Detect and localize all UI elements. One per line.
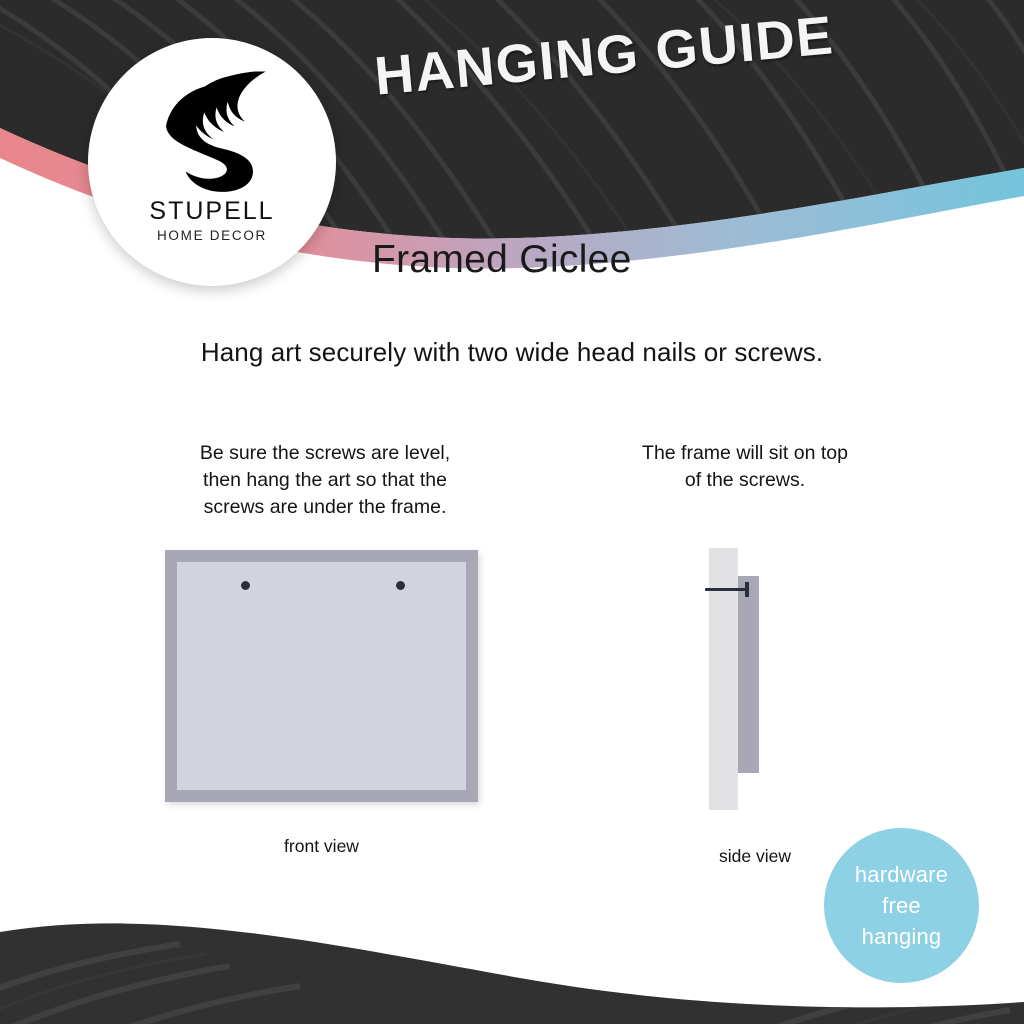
side-view-diagram	[700, 548, 810, 810]
front-view-panel: Be sure the screws are level, then hang …	[130, 440, 520, 521]
hanging-guide-page: STUPELL HOME DECOR HANGING GUIDE Framed …	[0, 0, 1024, 1024]
hardware-free-hanging-badge: hardware free hanging	[824, 828, 979, 983]
nail-head-icon	[745, 582, 749, 597]
front-view-caption: Be sure the screws are level, then hang …	[130, 440, 520, 521]
page-title: HANGING GUIDE	[372, 0, 895, 108]
caption-line: Be sure the screws are level,	[130, 440, 520, 467]
caption-line: screws are under the frame.	[130, 494, 520, 521]
brand-name: STUPELL	[88, 198, 336, 224]
side-view-panel: The frame will sit on top of the screws.	[600, 440, 890, 494]
caption-line: then hang the art so that the	[130, 467, 520, 494]
stupell-swoosh-logo-icon	[146, 64, 278, 196]
brand-tagline: HOME DECOR	[88, 228, 336, 243]
screw-dot-right	[396, 581, 405, 590]
caption-line: The frame will sit on top	[600, 440, 890, 467]
badge-line-2: free	[882, 890, 921, 921]
nail-shaft-icon	[705, 588, 748, 591]
brand-wordmark: STUPELL HOME DECOR	[88, 198, 336, 243]
caption-line: of the screws.	[600, 467, 890, 494]
product-type-label: Framed Giclee	[372, 238, 632, 282]
badge-line-3: hanging	[862, 921, 942, 952]
front-view-label: front view	[165, 836, 478, 857]
main-instruction-text: Hang art securely with two wide head nai…	[0, 337, 1024, 368]
badge-line-1: hardware	[855, 859, 948, 890]
side-view-frame	[738, 576, 759, 773]
brand-logo-badge: STUPELL HOME DECOR	[88, 38, 336, 286]
front-view-frame-diagram	[165, 550, 478, 802]
side-view-caption: The frame will sit on top of the screws.	[600, 440, 890, 494]
screw-dot-left	[241, 581, 250, 590]
front-view-art-panel	[177, 562, 466, 790]
